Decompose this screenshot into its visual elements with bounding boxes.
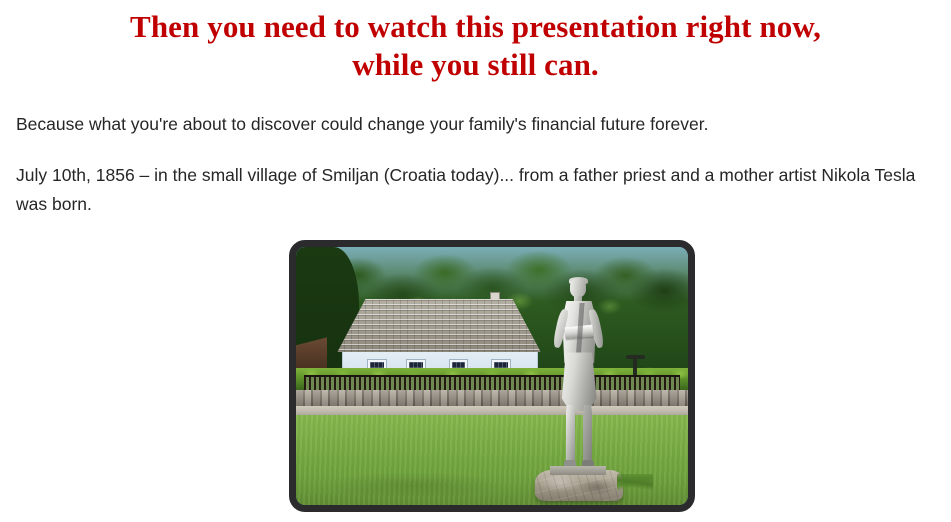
statue-head (570, 278, 586, 297)
photo-canvas (296, 247, 688, 505)
tesla-birthplace-photo (289, 240, 695, 512)
grass-tuft (617, 474, 652, 497)
body-copy: Because what you're about to discover co… (0, 110, 951, 219)
statue-base-plate (550, 466, 606, 475)
tesla-statue (545, 278, 612, 474)
page-headline: Then you need to watch this presentation… (0, 0, 951, 84)
statue-coat (560, 352, 599, 411)
statue-left-leg (566, 405, 575, 464)
stone-retaining-wall (296, 390, 688, 407)
paragraph-2: July 10th, 1856 – in the small village o… (16, 161, 916, 219)
headline-line-1: Then you need to watch this presentation… (130, 9, 821, 44)
headline-line-2: while you still can. (352, 47, 599, 82)
page-root: Then you need to watch this presentation… (0, 0, 951, 522)
shingle-roof (337, 299, 541, 353)
paragraph-1: Because what you're about to discover co… (16, 110, 916, 139)
photo-frame (289, 240, 695, 512)
statue-right-leg (583, 405, 592, 464)
